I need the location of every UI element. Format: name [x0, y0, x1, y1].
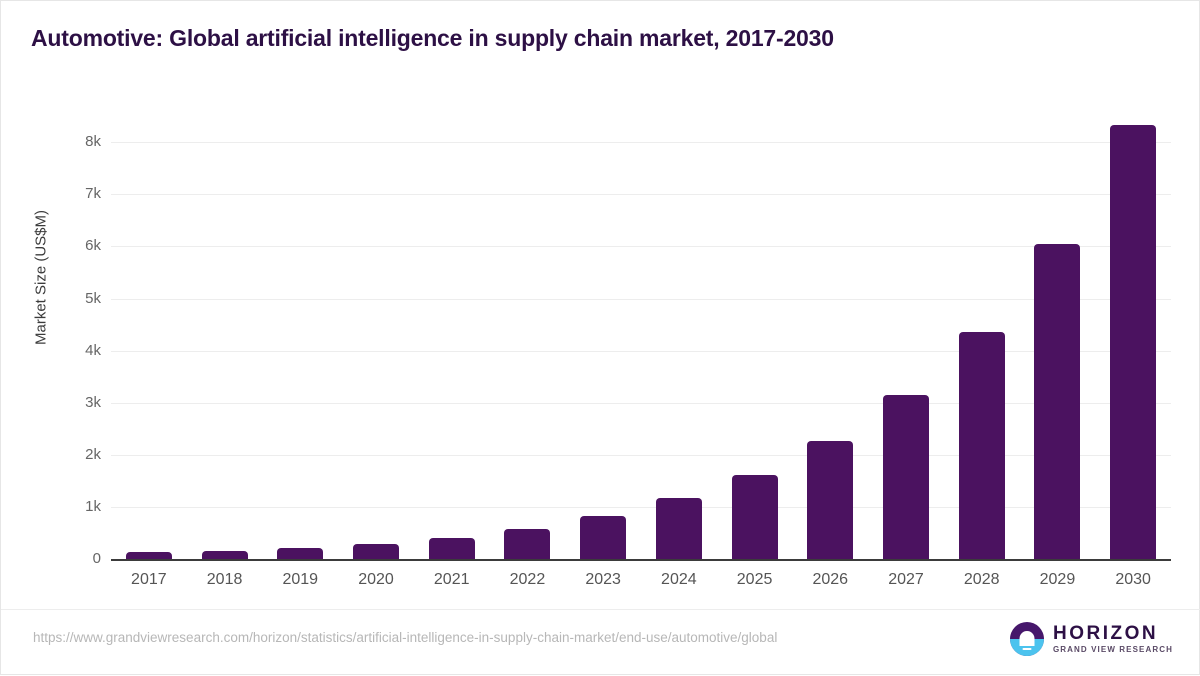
- bar-2021[interactable]: [429, 538, 475, 559]
- y-tick-label: 6k: [53, 237, 101, 254]
- bar-2029[interactable]: [1034, 244, 1080, 559]
- x-tick-label-2025: 2025: [720, 571, 790, 589]
- chart-page: Automotive: Global artificial intelligen…: [0, 0, 1200, 675]
- bar-2026[interactable]: [807, 441, 853, 559]
- bar-2028[interactable]: [959, 332, 1005, 559]
- y-tick-label: 7k: [53, 185, 101, 202]
- y-tick-label: 3k: [53, 394, 101, 411]
- bar-2024[interactable]: [656, 498, 702, 559]
- horizon-sun-logo-icon: [1010, 622, 1044, 656]
- x-tick-label-2029: 2029: [1022, 571, 1092, 589]
- x-tick-label-2018: 2018: [190, 571, 260, 589]
- y-tick-label: 5k: [53, 290, 101, 307]
- bar-2017[interactable]: [126, 552, 172, 559]
- x-tick-label-2028: 2028: [947, 571, 1017, 589]
- y-tick-label: 1k: [53, 498, 101, 515]
- y-axis-ticks: 01k2k3k4k5k6k7k8k: [41, 111, 101, 560]
- horizon-logo[interactable]: HORIZON GRAND VIEW RESEARCH: [1010, 621, 1173, 657]
- bar-2018[interactable]: [202, 551, 248, 559]
- logo-wordmark: HORIZON: [1053, 624, 1173, 643]
- x-tick-label-2019: 2019: [265, 571, 335, 589]
- y-tick-label: 2k: [53, 446, 101, 463]
- chart-plot-area: Market Size (US$M) 01k2k3k4k5k6k7k8k 201…: [1, 1, 1200, 676]
- x-tick-label-2017: 2017: [114, 571, 184, 589]
- x-axis-line: [111, 559, 1171, 561]
- bar-2030[interactable]: [1110, 125, 1156, 559]
- y-tick-label: 0: [53, 550, 101, 567]
- x-tick-label-2026: 2026: [795, 571, 865, 589]
- y-tick-label: 8k: [53, 133, 101, 150]
- x-tick-label-2030: 2030: [1098, 571, 1168, 589]
- x-tick-label-2022: 2022: [492, 571, 562, 589]
- bar-2023[interactable]: [580, 516, 626, 559]
- x-tick-label-2027: 2027: [871, 571, 941, 589]
- bar-2022[interactable]: [504, 529, 550, 559]
- bars-layer: [111, 111, 1171, 559]
- x-axis-ticks: 2017201820192020202120222023202420252026…: [111, 571, 1171, 599]
- bar-2020[interactable]: [353, 544, 399, 559]
- footer-divider: [1, 609, 1200, 610]
- x-tick-label-2021: 2021: [417, 571, 487, 589]
- y-tick-label: 4k: [53, 342, 101, 359]
- source-url[interactable]: https://www.grandviewresearch.com/horizo…: [33, 630, 777, 645]
- x-tick-label-2020: 2020: [341, 571, 411, 589]
- bar-2019[interactable]: [277, 548, 323, 559]
- bar-2025[interactable]: [732, 475, 778, 559]
- logo-tagline: GRAND VIEW RESEARCH: [1053, 646, 1173, 654]
- bar-2027[interactable]: [883, 395, 929, 559]
- x-tick-label-2024: 2024: [644, 571, 714, 589]
- x-tick-label-2023: 2023: [568, 571, 638, 589]
